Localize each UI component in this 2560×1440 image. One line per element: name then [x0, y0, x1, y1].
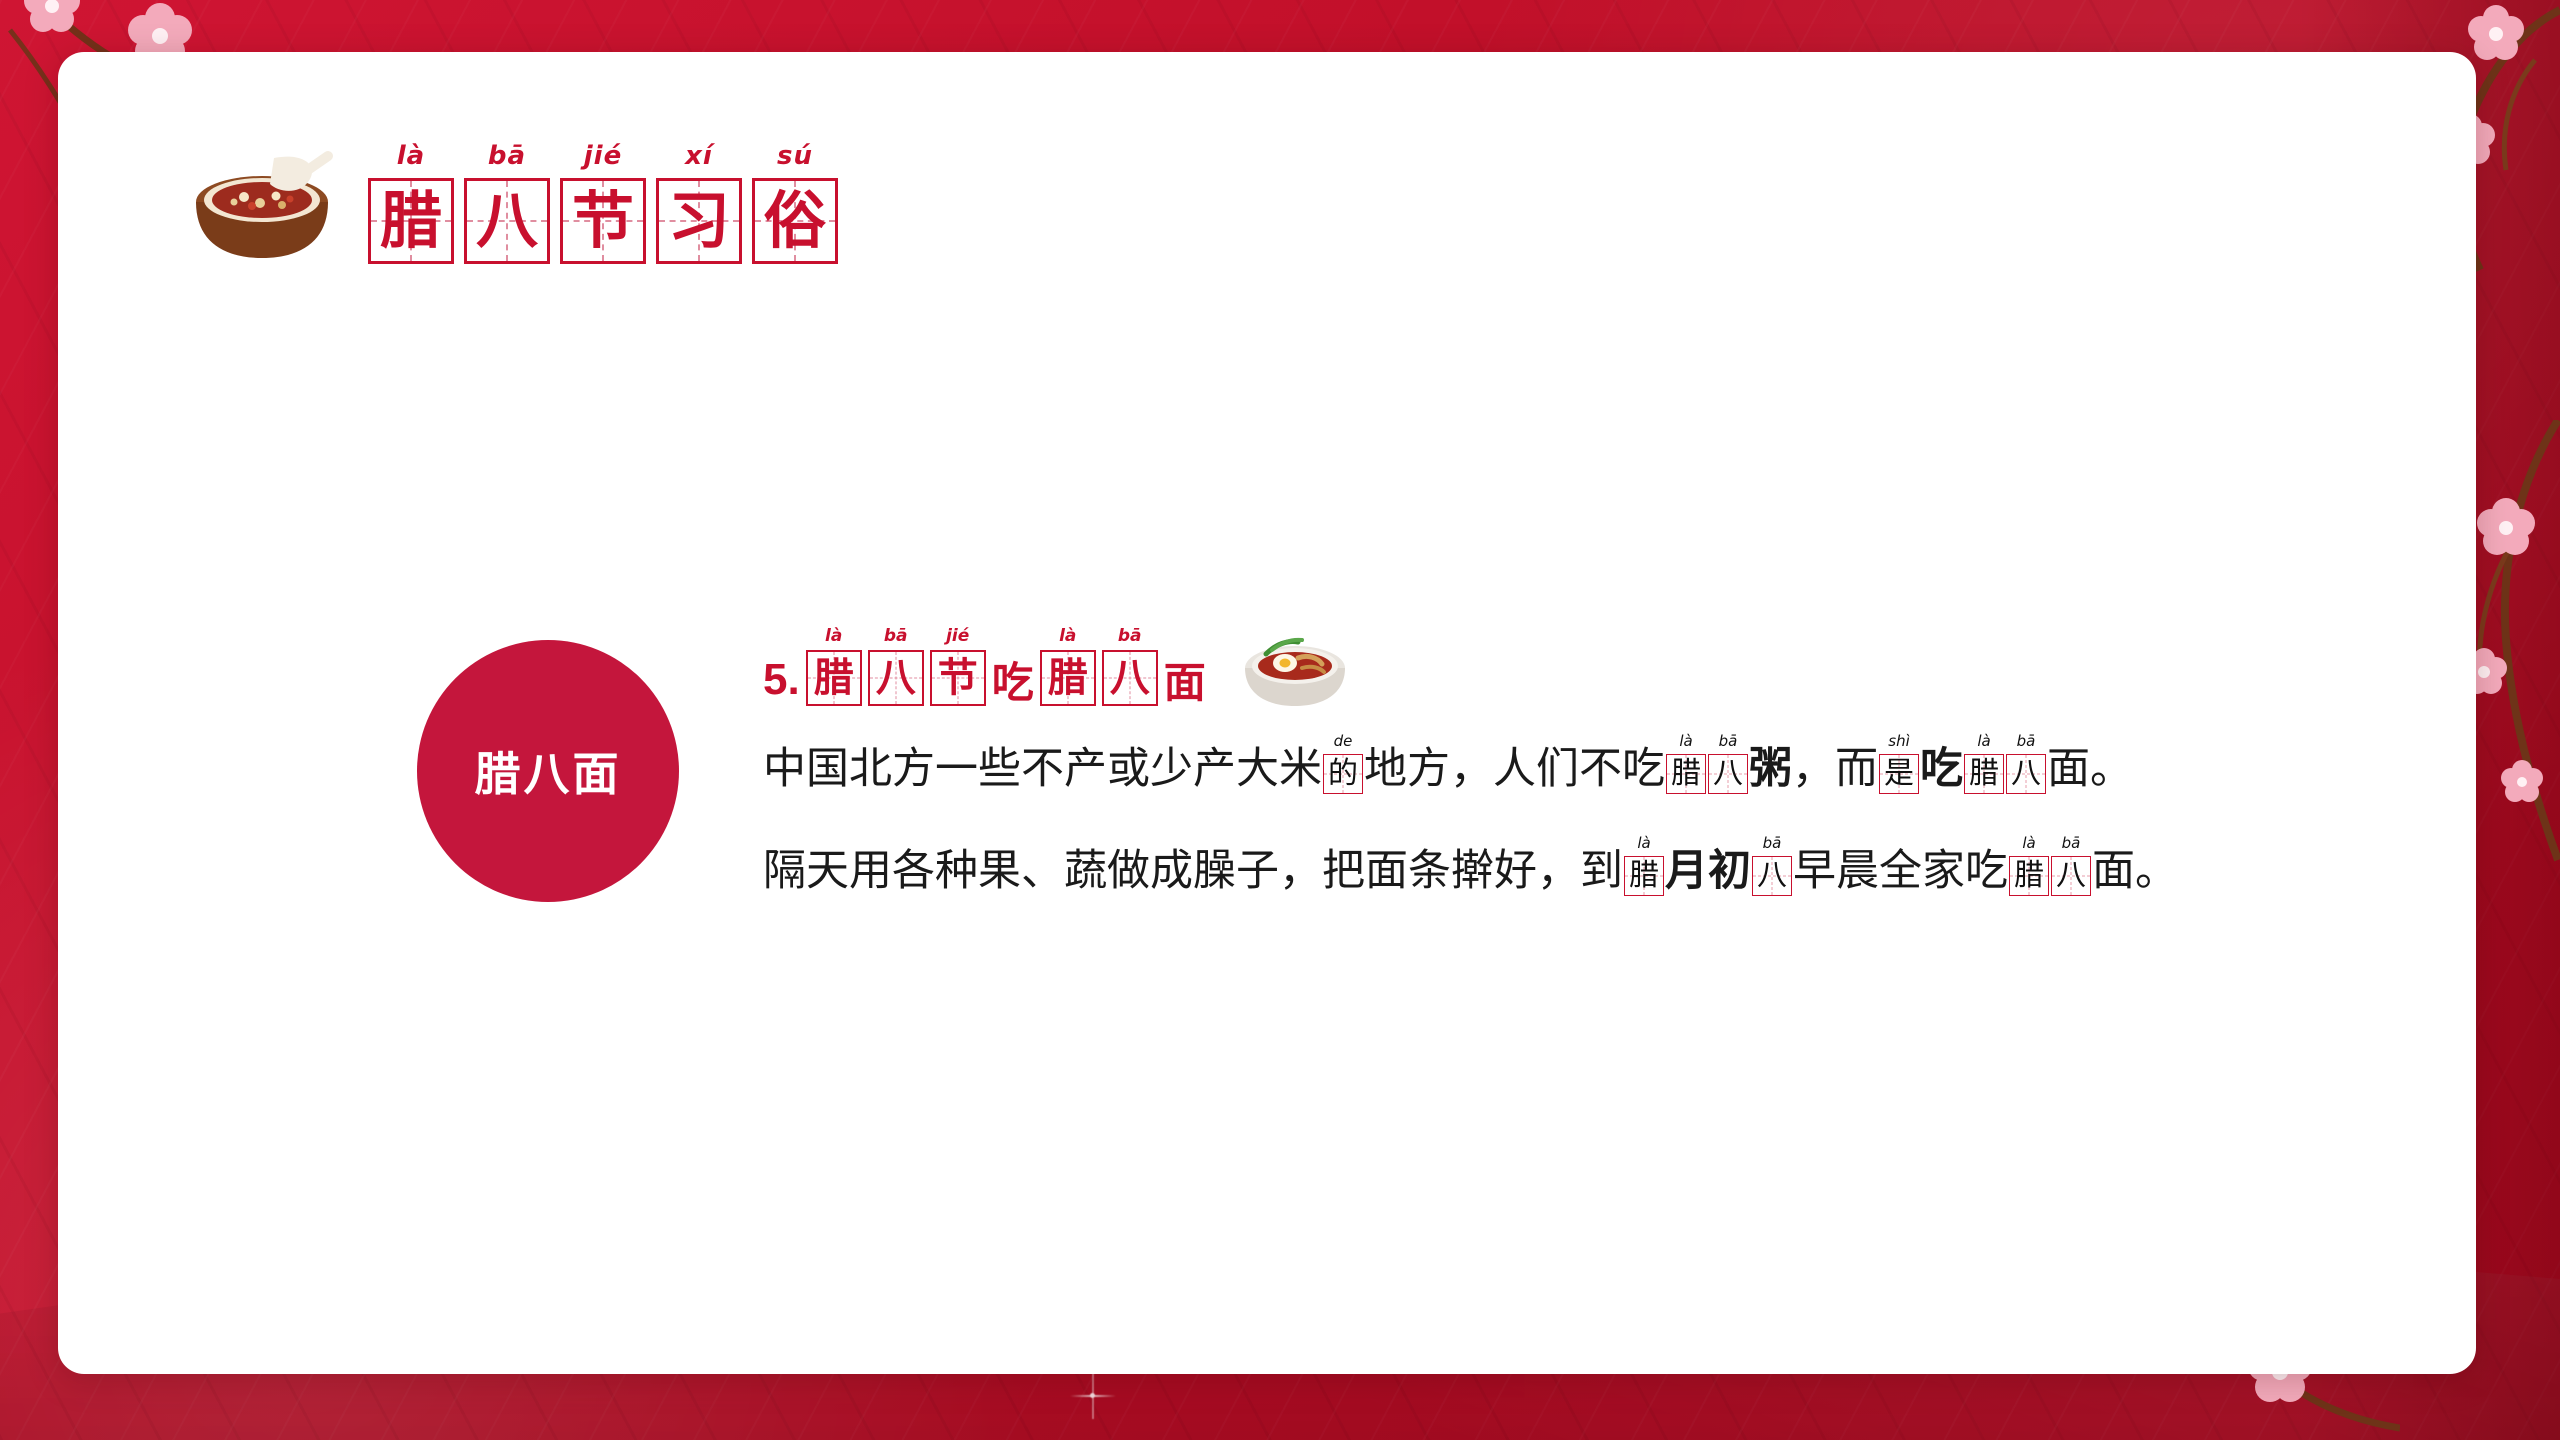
paragraph-1: 中国北方一些不产或少产大米 de 的 地方，人们不吃 là 腊 bā [763, 748, 2363, 792]
char-pinyin: là [2010, 836, 2048, 851]
title-char: là 腊 [368, 178, 454, 264]
paragraph-text: 面。 [2092, 850, 2178, 894]
char-pinyin: bā [1753, 836, 1791, 851]
paragraph-text-bold: 粥 [1749, 748, 1792, 792]
heading-boxed-char: là 腊 [1040, 650, 1096, 706]
char-pinyin: de [1324, 734, 1362, 749]
title-char: jié 节 [560, 178, 646, 264]
title-hanzi: 节 [563, 181, 643, 261]
paragraph-text: 面。 [2047, 748, 2133, 792]
char-pinyin: là [1667, 734, 1705, 749]
section-heading: 5. là 腊 bā 八 jié 节 [763, 634, 2363, 706]
char-pinyin: bā [1709, 734, 1747, 749]
paragraph-text: 隔天用各种果、蔬做成臊子，把面条擀好，到 [763, 850, 1623, 894]
heading-hanzi: 腊 [1042, 652, 1094, 704]
section-number: 5. [763, 658, 800, 702]
char-hanzi: 腊 [1965, 755, 2003, 793]
slide-card: là 腊 bā 八 jié 节 xí [58, 52, 2476, 1374]
heading-boxed-char: bā 八 [868, 650, 924, 706]
char-hanzi: 八 [2007, 755, 2045, 793]
title-char: xí 习 [656, 178, 742, 264]
annotated-char: bā 八 [1708, 754, 1748, 794]
laba-porridge-bowl-icon [178, 140, 346, 264]
heading-plain-char: 面 [1164, 662, 1206, 704]
title-hanzi: 八 [467, 181, 547, 261]
paragraph-text: 地方，人们不吃 [1364, 748, 1665, 792]
title-hanzi: 习 [659, 181, 739, 261]
heading-plain-char: 吃 [992, 662, 1034, 704]
char-hanzi: 八 [1753, 857, 1791, 895]
title-char: sú 俗 [752, 178, 838, 264]
heading-hanzi: 八 [870, 652, 922, 704]
slide-header: là 腊 bā 八 jié 节 xí [178, 140, 838, 264]
char-hanzi: 是 [1880, 755, 1918, 793]
laba-noodle-bowl-icon [1236, 618, 1354, 710]
paragraph-text: 中国北方一些不产或少产大米 [763, 748, 1322, 792]
paragraph-text: 早晨全家吃 [1793, 850, 2008, 894]
title-pinyin: sú [755, 141, 835, 171]
heading-hanzi: 八 [1104, 652, 1156, 704]
annotated-char: bā 八 [2051, 856, 2091, 896]
char-hanzi: 腊 [1625, 857, 1663, 895]
annotated-char: là 腊 [1624, 856, 1664, 896]
char-pinyin: bā [2007, 734, 2045, 749]
sparkle-icon [1090, 1393, 1095, 1398]
title-pinyin: xí [659, 141, 739, 171]
title-hanzi: 腊 [371, 181, 451, 261]
annotated-char: là 腊 [1964, 754, 2004, 794]
topic-badge-label: 腊八面 [475, 738, 622, 804]
annotated-char: de 的 [1323, 754, 1363, 794]
content-body: 5. là 腊 bā 八 jié 节 [763, 634, 2363, 894]
heading-pinyin: là [808, 626, 860, 646]
title-char: bā 八 [464, 178, 550, 264]
heading-hanzi: 节 [932, 652, 984, 704]
paragraph-text-bold: 月初 [1665, 850, 1751, 894]
heading-pinyin: bā [870, 626, 922, 646]
char-hanzi: 八 [1709, 755, 1747, 793]
heading-pinyin: bā [1104, 626, 1156, 646]
title-pinyin: bā [467, 141, 547, 171]
annotated-char: bā 八 [2006, 754, 2046, 794]
char-hanzi: 八 [2052, 857, 2090, 895]
annotated-char: là 腊 [2009, 856, 2049, 896]
annotated-char: bā 八 [1752, 856, 1792, 896]
title-pinyin: jié [563, 141, 643, 171]
page-title: là 腊 bā 八 jié 节 xí [368, 178, 838, 264]
paragraph-text: ，而 [1792, 748, 1878, 792]
slide-canvas: là 腊 bā 八 jié 节 xí [0, 0, 2560, 1440]
paragraph-text-bold: 吃 [1920, 748, 1963, 792]
heading-boxed-char: là 腊 [806, 650, 862, 706]
char-pinyin: là [1625, 836, 1663, 851]
title-hanzi: 俗 [755, 181, 835, 261]
char-hanzi: 腊 [1667, 755, 1705, 793]
char-pinyin: là [1965, 734, 2003, 749]
heading-pinyin: là [1042, 626, 1094, 646]
char-hanzi: 腊 [2010, 857, 2048, 895]
annotated-char: shì 是 [1879, 754, 1919, 794]
heading-boxed-char: jié 节 [930, 650, 986, 706]
char-hanzi: 的 [1324, 755, 1362, 793]
annotated-char: là 腊 [1666, 754, 1706, 794]
char-pinyin: shì [1880, 734, 1918, 749]
heading-pinyin: jié [932, 626, 984, 646]
topic-badge: 腊八面 [417, 640, 679, 902]
heading-boxed-char: bā 八 [1102, 650, 1158, 706]
title-pinyin: là [371, 141, 451, 171]
heading-hanzi: 腊 [808, 652, 860, 704]
char-pinyin: bā [2052, 836, 2090, 851]
paragraph-2: 隔天用各种果、蔬做成臊子，把面条擀好，到 là 腊 月初 bā 八 早晨全家吃 … [763, 850, 2363, 894]
